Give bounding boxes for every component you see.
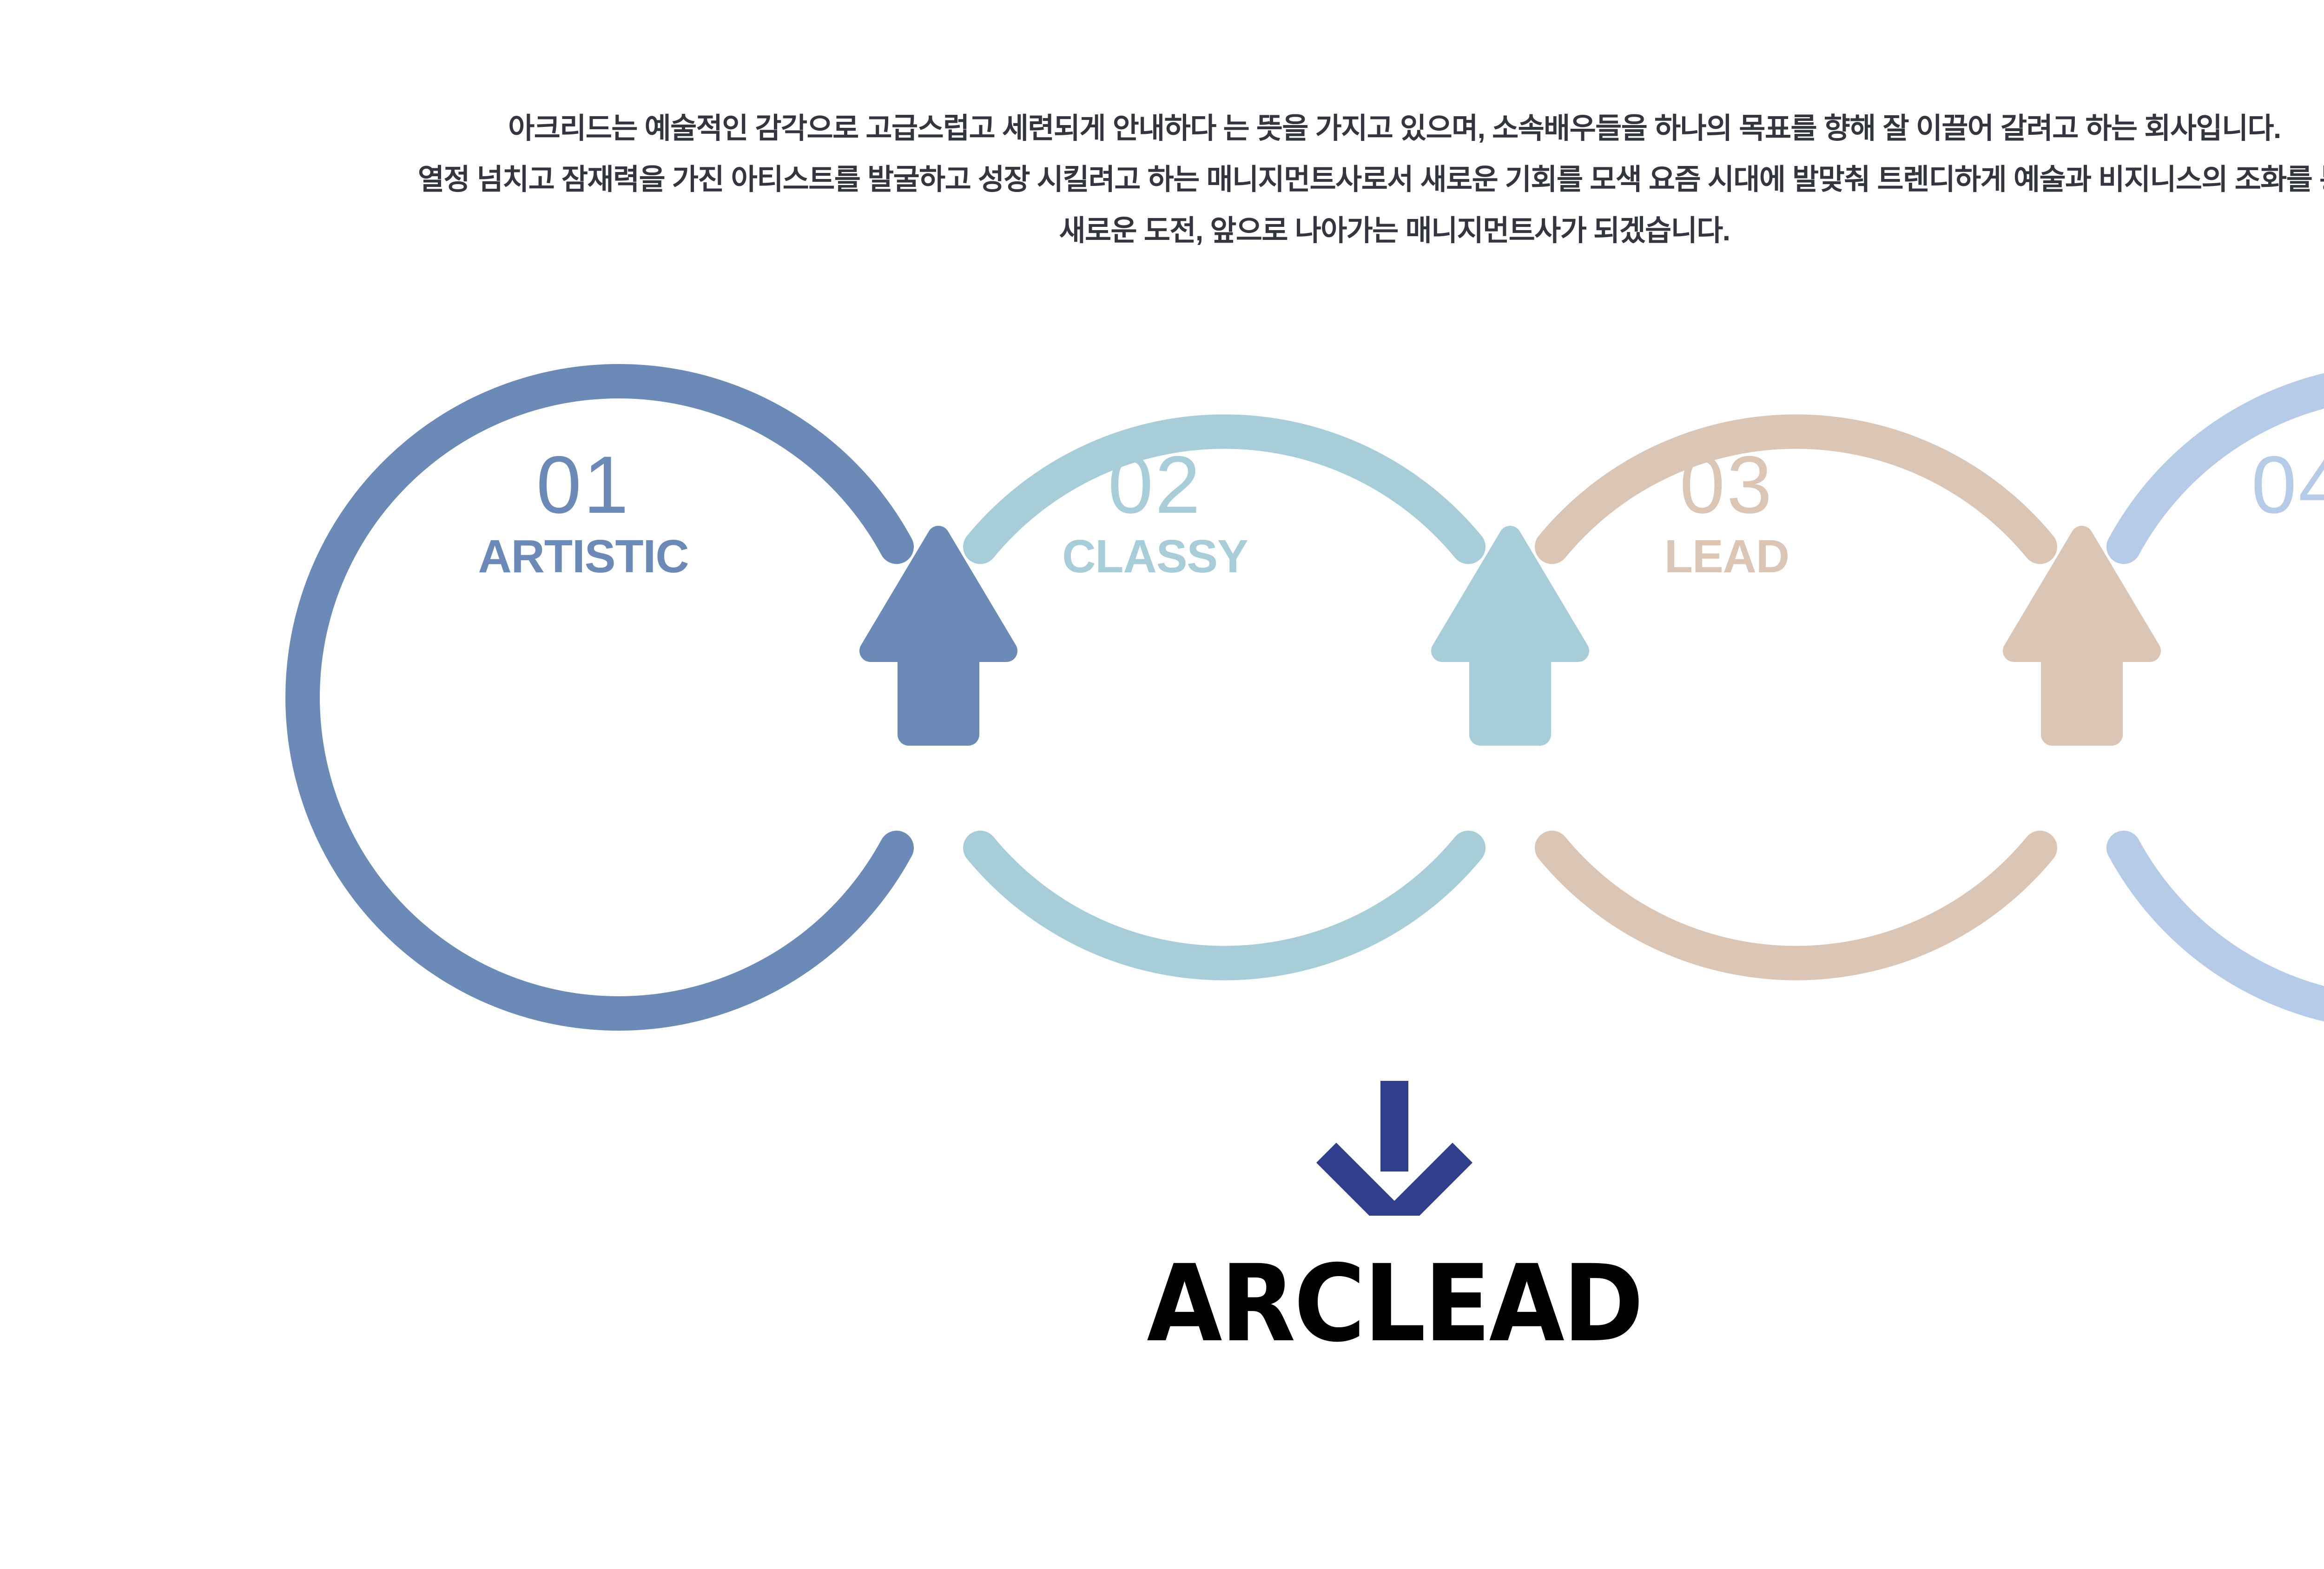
intro-line-2: 열정 넘치고 잠재력을 가진 아티스트를 발굴하고 성장 시킬려고 하는 매니지… xyxy=(0,154,2324,205)
step-3-number: 03 xyxy=(1518,444,1936,526)
step-4-number: 04 xyxy=(2089,444,2324,526)
step-2-labels: 02 CLASSY xyxy=(946,444,1364,580)
cycle-diagram: 01 ARTISTIC 02 CLASSY 03 LEAD 04 xyxy=(0,325,2324,1069)
step-1-labels: 01 ARTISTIC xyxy=(374,444,792,580)
down-arrow-wrap xyxy=(1292,1081,1497,1216)
ring-arc-step-2-bottom xyxy=(980,848,1468,963)
brand-wordmark: ARCLEAD xyxy=(112,1251,2324,1357)
step-2-number: 02 xyxy=(946,444,1364,526)
arrow-step-3-to-4 xyxy=(2014,537,2150,735)
step-4-labels: 04 xyxy=(2089,444,2324,533)
step-1-name: ARTISTIC xyxy=(374,533,792,580)
step-3-name: LEAD xyxy=(1518,533,1936,580)
cycle-graphics xyxy=(0,325,2324,1069)
step-2-name: CLASSY xyxy=(946,533,1364,580)
step-1-number: 01 xyxy=(374,444,792,526)
intro-line-1: 아크리드는 예술적인 감각으로 고급스럽고 세련되게 안내하다 는 뜻을 가지고… xyxy=(0,103,2324,154)
down-arrow-icon xyxy=(1292,1081,1497,1216)
intro-line-3: 새로운 도전, 앞으로 나아가는 매니지먼트사가 되겠습니다. xyxy=(0,205,2324,257)
intro-paragraph: 아크리드는 예술적인 감각으로 고급스럽고 세련되게 안내하다 는 뜻을 가지고… xyxy=(0,103,2324,257)
ring-arc-step-3-bottom xyxy=(1552,848,2040,963)
step-3-labels: 03 LEAD xyxy=(1518,444,1936,580)
